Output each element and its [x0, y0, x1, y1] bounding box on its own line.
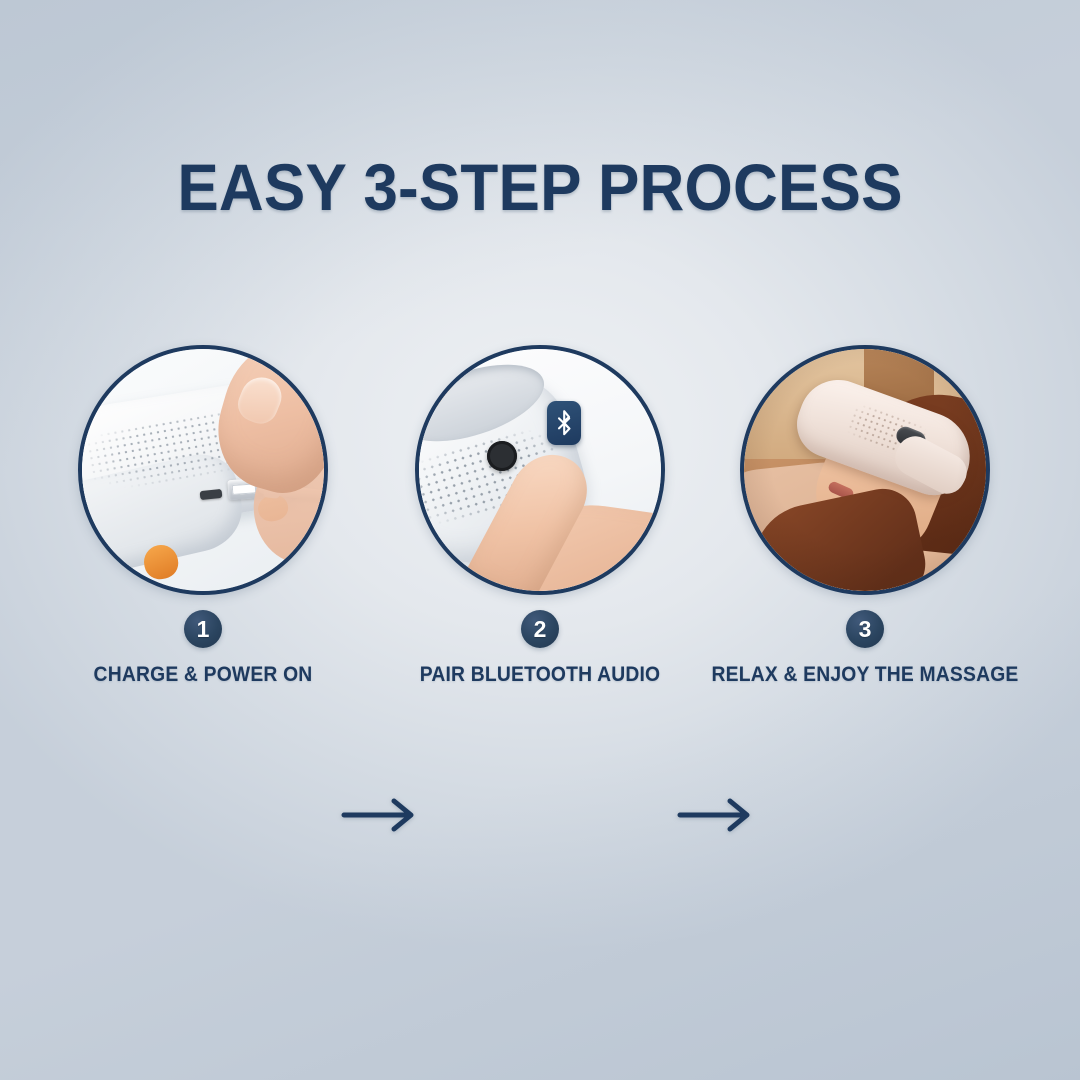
step-item-1: [78, 345, 328, 595]
step-labels-row: 1 CHARGE & POWER ON 2 PAIR BLUETOOTH AUD…: [0, 610, 1080, 700]
step-2-scene: [419, 349, 661, 591]
step-label-2: PAIR BLUETOOTH AUDIO: [420, 662, 661, 688]
bluetooth-icon: [547, 401, 581, 445]
step-2-photo: [415, 345, 665, 595]
step-3-scene: [744, 349, 986, 591]
infographic-canvas: EASY 3-STEP PROCESS: [0, 0, 1080, 1080]
step-1-caption: 1 CHARGE & POWER ON: [78, 610, 328, 648]
step-1-scene: [82, 349, 324, 591]
step-number-badge-2: 2: [521, 610, 559, 648]
step-label-1: CHARGE & POWER ON: [94, 662, 313, 688]
step-1-photo: [78, 345, 328, 595]
power-button-icon: [487, 441, 517, 471]
step-3-photo: [740, 345, 990, 595]
step-2-caption: 2 PAIR BLUETOOTH AUDIO: [415, 610, 665, 648]
step-label-3: RELAX & ENJOY THE MASSAGE: [712, 662, 1019, 688]
step-item-3: [740, 345, 990, 595]
step-number-badge-3: 3: [846, 610, 884, 648]
photo-vignette: [744, 349, 986, 591]
step-item-2: [415, 345, 665, 595]
arrow-right-icon: [676, 794, 762, 836]
arrow-right-icon: [340, 794, 426, 836]
step-number-badge-1: 1: [184, 610, 222, 648]
page-title: EASY 3-STEP PROCESS: [32, 152, 1047, 222]
step-3-caption: 3 RELAX & ENJOY THE MASSAGE: [740, 610, 990, 648]
